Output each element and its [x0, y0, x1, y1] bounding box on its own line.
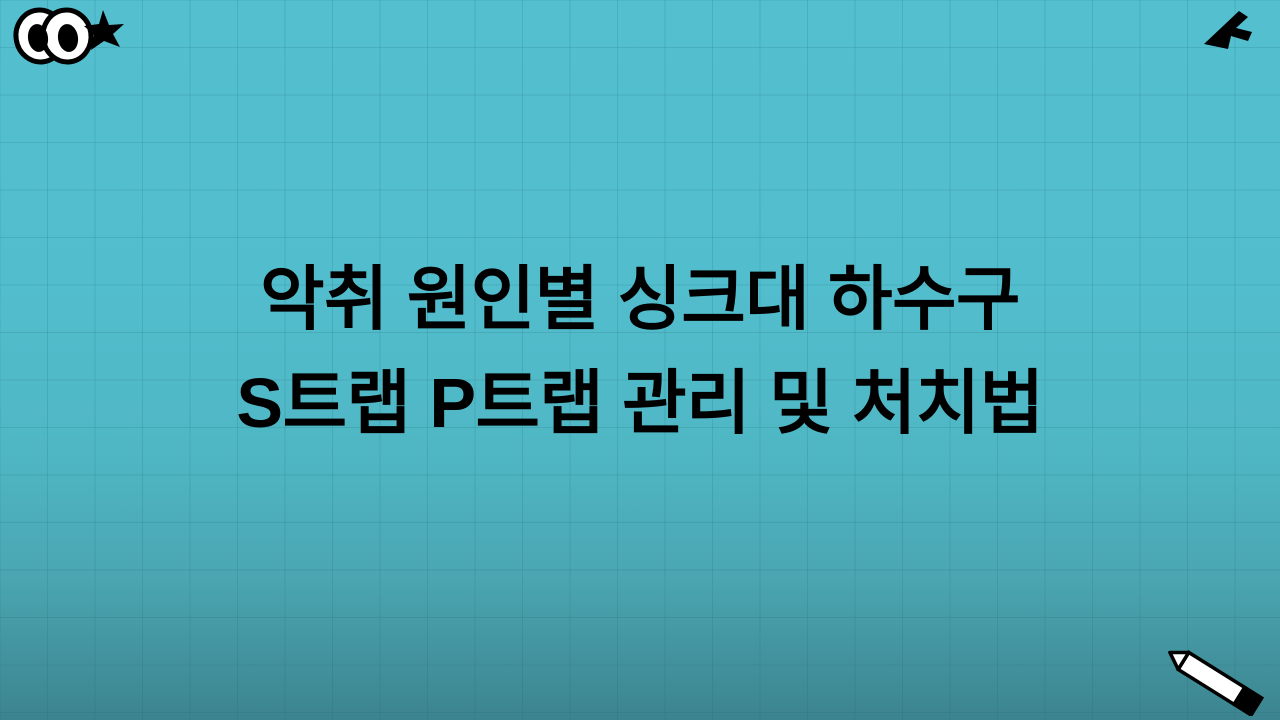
pencil-icon: [1158, 644, 1270, 716]
googly-eyes-icon: [8, 4, 126, 66]
page-title: 악취 원인별 싱크대 하수구 S트랩 P트랩 관리 및 처치법: [0, 247, 1280, 455]
arrow-cursor-icon: [1202, 8, 1258, 52]
poster-canvas: 악취 원인별 싱크대 하수구 S트랩 P트랩 관리 및 처치법: [0, 0, 1280, 720]
